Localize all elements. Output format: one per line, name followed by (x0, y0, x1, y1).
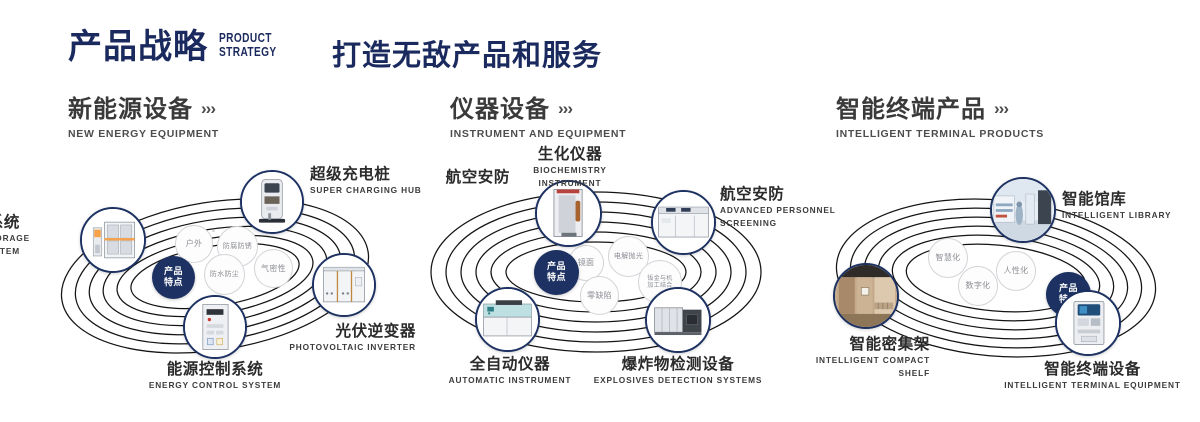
security-gate-icon (537, 182, 600, 245)
screening-machine-icon (653, 192, 714, 253)
section-title-cn: 智能终端产品››› (836, 96, 1044, 122)
feature-bubble-2: 数字化 (958, 266, 998, 306)
section-title-cn: 新能源设备››› (68, 96, 219, 122)
product-strategy-infographic: 产品战略 PRODUCT STRATEGY 打造无敌产品和服务 新能源设备›››… (0, 0, 1200, 422)
node-intelligent-library[interactable] (990, 177, 1056, 243)
chevron-right-icon: ››› (558, 96, 572, 122)
node-intelligent-compact-shelf[interactable] (833, 263, 899, 329)
automatic-analyzer-icon (477, 289, 538, 350)
spacer2 (212, 230, 214, 232)
section-title-intelligent-terminal: 智能终端产品››› INTELLIGENT TERMINAL PRODUCTS (836, 96, 1044, 140)
page-title-en-line1: PRODUCT (219, 31, 277, 45)
feature-bubble-3: 人性化 (996, 251, 1036, 291)
cluster-new-energy: 户外 防腐防锈 防水防尘 气密性 产品 特点 (0, 150, 420, 400)
section-title-en: INTELLIGENT TERMINAL PRODUCTS (836, 128, 1044, 140)
page-slogan: 打造无敌产品和服务 (332, 32, 602, 74)
caption-biochemistry-instrument: 生化仪器 BIOCHEMISTRY INSTRUMENT (505, 145, 635, 189)
section-title-cn: 仪器设备››› (450, 96, 626, 122)
section-title-en: NEW ENERGY EQUIPMENT (68, 128, 219, 140)
caption-intelligent-compact-shelf: 智能密集架 INTELLIGENT COMPACT SHELF (730, 335, 930, 379)
caption-automatic-instrument: 全自动仪器 AUTOMATIC INSTRUMENT (420, 355, 600, 386)
core-bubble-product-features: 产品 特点 (152, 256, 195, 299)
page-title: 产品战略 (68, 27, 208, 67)
node-automatic-instrument[interactable] (475, 287, 540, 352)
feature-bubble-4: 气密性 (254, 249, 293, 288)
section-title-instrument: 仪器设备››› INSTRUMENT AND EQUIPMENT (450, 96, 626, 140)
caption-intelligent-library: 智能馆库 INTELLIGENT LIBRARY (1062, 190, 1171, 221)
control-cabinet-icon (185, 297, 245, 357)
compact-shelf-icon (835, 265, 897, 327)
core-bubble-product-features: 产品 特点 (534, 250, 579, 295)
terminal-kiosk-icon (1057, 292, 1119, 354)
page-title-en-line2: STRATEGY (219, 45, 277, 59)
node-energy-control-system[interactable] (183, 295, 247, 359)
battery-cabinet-icon (82, 209, 144, 271)
node-intelligent-terminal-equipment[interactable] (1055, 290, 1121, 356)
section-title-new-energy: 新能源设备››› NEW ENERGY EQUIPMENT (68, 96, 219, 140)
cluster-intelligent-terminal: 智慧化 数字化 人性化 产品 特点 (800, 150, 1200, 400)
caption-intelligent-terminal-equipment: 智能终端设备 INTELLIGENT TERMINAL EQUIPMENT (985, 360, 1200, 391)
charging-pile-icon (242, 172, 302, 232)
page-title-en: PRODUCT STRATEGY (219, 31, 277, 59)
feature-bubble-3: 零缺陷 (580, 276, 619, 315)
node-explosives-detection-systems[interactable] (645, 287, 711, 353)
chevron-right-icon: ››› (201, 96, 215, 122)
node-energy-storage-system[interactable] (80, 207, 146, 273)
caption-photovoltaic-inverter: 光伏逆变器 PHOTOVOLTAIC INVERTER (280, 322, 416, 353)
page-header: 产品战略 PRODUCT STRATEGY 打造无敌产品和服务 (0, 0, 1200, 86)
detection-unit-icon (647, 289, 709, 351)
caption-aviation-security: 航空安防 (390, 168, 510, 186)
section-title-en: INSTRUMENT AND EQUIPMENT (450, 128, 626, 140)
node-advanced-personnel-screening[interactable] (651, 190, 716, 255)
node-super-charging-hub[interactable] (240, 170, 304, 234)
node-biochemistry-instrument[interactable] (535, 180, 602, 247)
feature-bubble-3: 防水防尘 (204, 254, 245, 295)
chevron-right-icon: ››› (994, 96, 1008, 122)
caption-energy-control-system: 能源控制系统 ENERGY CONTROL SYSTEM (90, 360, 340, 391)
inverter-cabinet-icon (314, 255, 374, 315)
library-room-icon (992, 179, 1054, 241)
node-photovoltaic-inverter[interactable] (312, 253, 376, 317)
caption-energy-storage-system: 储能系统 ENERGY STORAGE SYSTEM (0, 213, 20, 257)
